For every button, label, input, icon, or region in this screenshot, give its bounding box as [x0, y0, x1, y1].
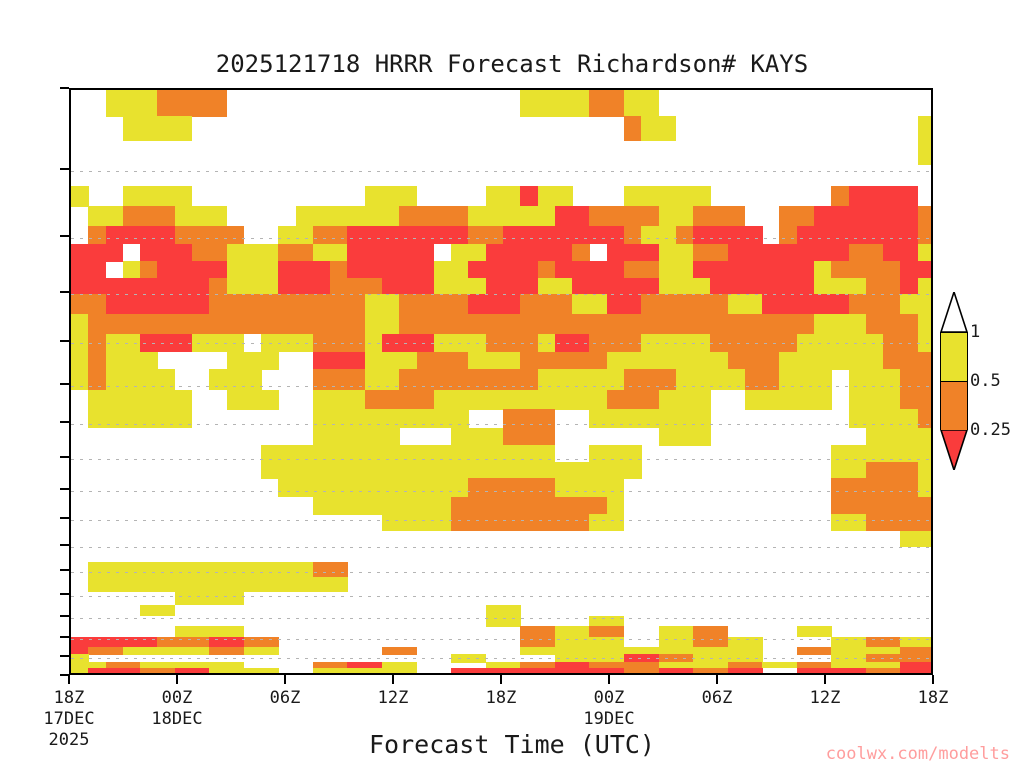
terrain-segment [261, 674, 279, 675]
x-tick-mark [716, 675, 718, 684]
terrain-segment [296, 674, 314, 675]
x-tick-label: 00Z18DEC [151, 688, 202, 730]
heatmap-cell [71, 673, 933, 675]
terrain-segment [227, 674, 245, 675]
x-tick-time: 18Z [918, 688, 949, 709]
x-tick-label: 06Z [270, 688, 301, 709]
terrain-segment [88, 674, 106, 675]
colorbar-tick-label: 1 [970, 322, 980, 342]
x-tick-time: 18Z [486, 688, 517, 709]
x-tick-label: 18Z [918, 688, 949, 709]
x-tick-mark [392, 675, 394, 684]
terrain-segment [71, 674, 89, 675]
terrain-segment [676, 673, 694, 675]
x-tick-date: 19DEC [583, 709, 634, 730]
x-tick-label: 12Z [378, 688, 409, 709]
terrain-segment [244, 674, 262, 675]
terrain-segment [140, 674, 158, 675]
terrain-segment [728, 673, 746, 675]
x-tick-time: 18Z [43, 688, 94, 709]
terrain-segment [434, 673, 452, 675]
y-tick-mark [60, 517, 69, 519]
chart-title: 2025121718 HRRR Forecast Richardson# KAY… [0, 50, 1024, 78]
terrain-segment [468, 673, 486, 675]
x-tick-date: 17DEC [43, 709, 94, 730]
heatmap-plot-area[interactable] [69, 88, 933, 675]
terrain-segment [849, 673, 867, 675]
terrain-segment [779, 673, 797, 675]
terrain-segment [157, 674, 175, 675]
y-tick-mark [60, 636, 69, 638]
x-tick-mark [68, 675, 70, 684]
terrain-segment [417, 673, 435, 675]
y-tick-mark [60, 168, 69, 170]
terrain-segment [797, 673, 815, 675]
terrain-segment [330, 674, 348, 675]
terrain-segment [624, 673, 642, 675]
terrain-segment [209, 674, 227, 675]
x-tick-time: 00Z [151, 688, 202, 709]
x-tick-mark [176, 675, 178, 684]
x-tick-label: 18Z [486, 688, 517, 709]
y-tick-mark [60, 340, 69, 342]
x-tick-mark [608, 675, 610, 684]
terrain-segment [900, 673, 918, 675]
terrain-segment [399, 673, 417, 675]
terrain-segment [745, 673, 763, 675]
terrain-segment [659, 673, 677, 675]
terrain-segment [538, 673, 556, 675]
chart-page: 2025121718 HRRR Forecast Richardson# KAY… [0, 0, 1024, 768]
terrain-segment [451, 673, 469, 675]
colorbar-tick-label: 0.25 [970, 420, 1011, 440]
y-tick-mark [60, 456, 69, 458]
terrain-segment [814, 673, 832, 675]
y-tick-mark [60, 291, 69, 293]
terrain-segment [365, 674, 383, 675]
x-tick-mark [932, 675, 934, 684]
x-tick-mark [284, 675, 286, 684]
x-tick-mark [824, 675, 826, 684]
terrain-segment [572, 673, 590, 675]
terrain-segment [123, 674, 141, 675]
terrain-segment [278, 674, 296, 675]
y-tick-mark [60, 615, 69, 617]
colorbar-top-arrow [940, 292, 968, 332]
terrain-segment [710, 673, 728, 675]
terrain-segment [589, 673, 607, 675]
terrain-segment [918, 673, 933, 675]
x-tick-time: 06Z [702, 688, 733, 709]
x-tick-date: 18DEC [151, 709, 202, 730]
y-tick-mark [60, 87, 69, 89]
terrain-segment [106, 674, 124, 675]
x-tick-time: 12Z [810, 688, 841, 709]
y-tick-mark [60, 569, 69, 571]
y-tick-mark [60, 421, 69, 423]
x-tick-label: 06Z [702, 688, 733, 709]
y-tick-mark [60, 593, 69, 595]
terrain-segment [503, 673, 521, 675]
colorbar-bottom-arrow [940, 430, 968, 470]
terrain-band [71, 90, 931, 673]
terrain-segment [693, 673, 711, 675]
y-tick-mark [60, 235, 69, 237]
terrain-segment [347, 674, 365, 675]
x-tick-mark [500, 675, 502, 684]
terrain-segment [641, 673, 659, 675]
terrain-segment [762, 673, 780, 675]
x-tick-label: 12Z [810, 688, 841, 709]
y-tick-mark [60, 544, 69, 546]
colorbar-segment-orange [940, 381, 968, 430]
terrain-segment [382, 673, 400, 675]
x-tick-time: 00Z [583, 688, 634, 709]
x-tick-label: 00Z19DEC [583, 688, 634, 730]
colorbar-segment-yellow [940, 332, 968, 381]
y-tick-mark [60, 655, 69, 657]
terrain-segment [555, 673, 573, 675]
terrain-segment [520, 673, 538, 675]
watermark: coolwx.com/modelts [0, 744, 1010, 764]
colorbar[interactable]: 10.50.25 [940, 292, 968, 470]
terrain-segment [866, 673, 884, 675]
x-tick-time: 06Z [270, 688, 301, 709]
y-tick-mark [60, 383, 69, 385]
x-tick-time: 12Z [378, 688, 409, 709]
terrain-segment [192, 674, 210, 675]
terrain-segment [883, 673, 901, 675]
terrain-segment [831, 673, 849, 675]
terrain-segment [313, 674, 331, 675]
y-tick-mark [60, 488, 69, 490]
colorbar-tick-label: 0.5 [970, 371, 1001, 391]
